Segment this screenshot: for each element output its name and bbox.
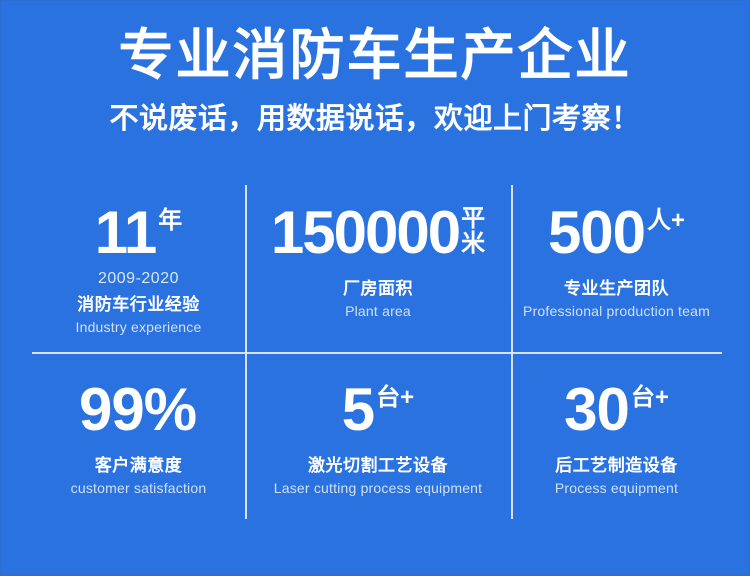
stat-label-cn: 激光切割工艺设备 bbox=[308, 454, 448, 477]
page-subtitle: 不说废话，用数据说话，欢迎上门考察！ bbox=[0, 100, 750, 138]
stat-number-line: 150000 平 米 bbox=[271, 203, 485, 263]
promo-poster: 专业消防车生产企业 不说废话，用数据说话，欢迎上门考察！ 11 年 2009-2… bbox=[0, 0, 750, 576]
stat-card-plant-area: 150000 平 米 厂房面积 Plant area bbox=[245, 185, 511, 352]
stat-number-line: 11 年 bbox=[95, 203, 182, 263]
stat-label-en: Laser cutting process equipment bbox=[274, 479, 483, 498]
stat-label-en: Plant area bbox=[345, 302, 411, 321]
grid-divider-vertical-left bbox=[245, 185, 247, 519]
stat-label-cn: 后工艺制造设备 bbox=[555, 454, 678, 477]
stat-number-line: 5 台+ bbox=[342, 380, 414, 440]
stat-year-range: 2009-2020 bbox=[98, 269, 179, 289]
stats-row-bottom: 99% 客户满意度 customer satisfaction 5 台+ 激光切… bbox=[32, 352, 722, 519]
stat-unit: 台+ bbox=[631, 386, 669, 410]
stat-unit-top: 平 bbox=[461, 206, 485, 231]
stat-label-en: Industry experience bbox=[76, 318, 202, 337]
stat-label-cn: 专业生产团队 bbox=[564, 277, 669, 300]
stat-number-line: 500 人+ bbox=[548, 203, 685, 263]
stat-number: 150000 bbox=[271, 203, 459, 263]
page-title: 专业消防车生产企业 bbox=[0, 22, 750, 88]
grid-divider-vertical-right bbox=[511, 185, 513, 519]
stat-unit: 年 bbox=[158, 209, 182, 233]
stat-unit: 台+ bbox=[376, 386, 414, 410]
stat-label-en: Professional production team bbox=[523, 302, 710, 321]
stat-label-en: Process equipment bbox=[555, 479, 678, 498]
grid-divider-horizontal bbox=[32, 352, 722, 354]
stat-unit: 人+ bbox=[647, 209, 685, 233]
poster-header: 专业消防车生产企业 不说废话，用数据说话，欢迎上门考察！ bbox=[0, 22, 750, 138]
stat-label-cn: 消防车行业经验 bbox=[77, 293, 200, 316]
stat-unit-bottom: 米 bbox=[461, 231, 485, 256]
stat-unit: 平 米 bbox=[461, 206, 485, 256]
stat-label-cn: 厂房面积 bbox=[343, 277, 413, 300]
stat-card-customer-satisfaction: 99% 客户满意度 customer satisfaction bbox=[32, 352, 245, 519]
stat-number: 99% bbox=[79, 380, 196, 440]
stat-card-laser-cutting-equipment: 5 台+ 激光切割工艺设备 Laser cutting process equi… bbox=[245, 352, 511, 519]
stat-number: 11 bbox=[95, 203, 156, 263]
stats-row-top: 11 年 2009-2020 消防车行业经验 Industry experien… bbox=[32, 185, 722, 352]
stat-number: 30 bbox=[564, 380, 629, 440]
stat-number-line: 99% bbox=[79, 380, 198, 440]
stat-card-production-team: 500 人+ 专业生产团队 Professional production te… bbox=[511, 185, 722, 352]
stat-card-industry-experience: 11 年 2009-2020 消防车行业经验 Industry experien… bbox=[32, 185, 245, 352]
stat-label-en: customer satisfaction bbox=[71, 479, 207, 498]
stat-card-process-equipment: 30 台+ 后工艺制造设备 Process equipment bbox=[511, 352, 722, 519]
stat-number: 5 bbox=[342, 380, 374, 440]
stat-label-cn: 客户满意度 bbox=[95, 454, 183, 477]
stat-number-line: 30 台+ bbox=[564, 380, 669, 440]
stat-number: 500 bbox=[548, 203, 645, 263]
